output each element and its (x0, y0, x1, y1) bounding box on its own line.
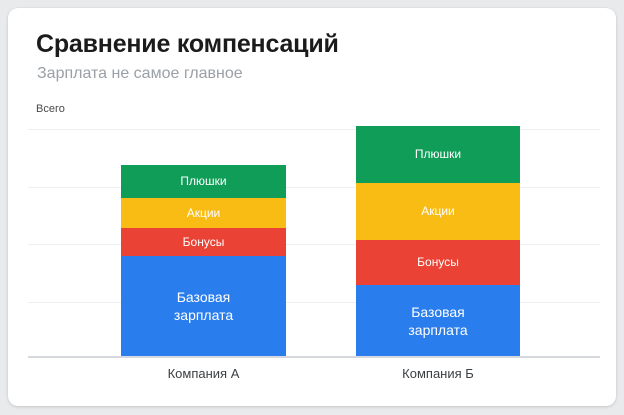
chart-subtitle: Зарплата не самое главное (37, 65, 243, 83)
plot-area: ПлюшкиАкцииБонусыБазовая зарплатаПлюшкиА… (28, 118, 600, 358)
bar-segment-label: Плюшки (415, 147, 461, 162)
bar-segment[interactable]: Бонусы (121, 228, 286, 256)
bar-segment-label: Бонусы (417, 255, 459, 270)
bar-segment[interactable]: Акции (356, 183, 520, 240)
page-title: Сравнение компенсаций (36, 30, 339, 59)
x-tick-label-0: Компания А (121, 366, 286, 381)
bar-segment-label: Бонусы (183, 235, 225, 250)
bar-segment-label: Плюшки (180, 174, 226, 189)
x-tick-label-1: Компания Б (356, 366, 520, 381)
bar-segment[interactable]: Базовая зарплата (121, 256, 286, 356)
bar-segment-label: Базовая зарплата (174, 288, 233, 324)
bar-segment[interactable]: Плюшки (121, 165, 286, 198)
bar-segment[interactable]: Плюшки (356, 126, 520, 183)
bar-segment-label: Акции (187, 206, 221, 221)
bar-segment-label: Базовая зарплата (408, 303, 467, 339)
bar-segment[interactable]: Базовая зарплата (356, 285, 520, 356)
chart-card: Сравнение компенсаций Зарплата не самое … (8, 8, 616, 406)
bar-stack[interactable]: ПлюшкиАкцииБонусыБазовая зарплата (121, 165, 286, 356)
bar-segment[interactable]: Бонусы (356, 240, 520, 285)
y-axis-label: Всего (36, 103, 65, 115)
bar-segment[interactable]: Акции (121, 198, 286, 228)
bar-series-container: ПлюшкиАкцииБонусыБазовая зарплатаПлюшкиА… (28, 118, 600, 358)
bar-segment-label: Акции (421, 204, 455, 219)
bar-stack[interactable]: ПлюшкиАкцииБонусыБазовая зарплата (356, 126, 520, 356)
